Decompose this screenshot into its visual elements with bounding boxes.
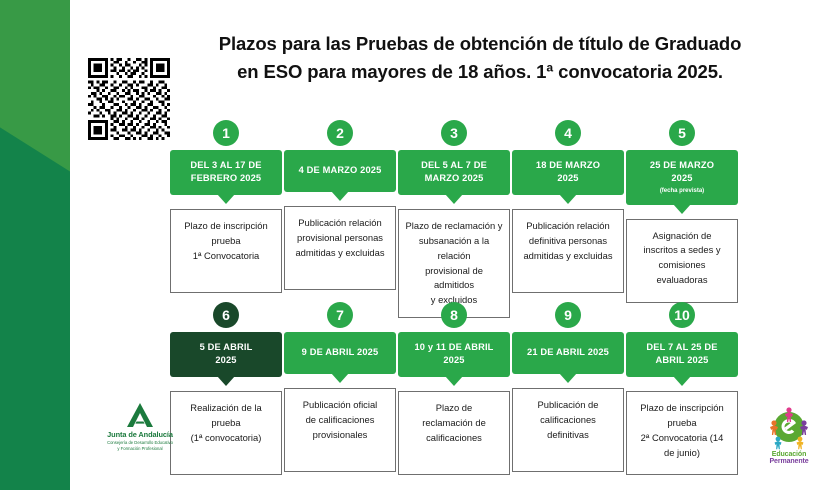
step-4[interactable]: 4 18 DE MARZO 2025 Publicación relación … [512, 120, 624, 293]
step-number-badge: 2 [327, 120, 353, 146]
step-description-line: prueba [177, 234, 275, 249]
step-description-line: Plazo de reclamación y [405, 219, 503, 234]
step-date-line: 4 DE MARZO 2025 [299, 164, 382, 177]
step-date-banner: 4 DE MARZO 2025 [284, 150, 396, 192]
step-date-banner: 5 DE ABRIL 2025 [170, 332, 282, 377]
step-date-line: 21 DE ABRIL 2025 [527, 346, 609, 359]
educacion-permanente-word-1: Educación [772, 451, 807, 458]
step-date-line: MARZO 2025 [425, 172, 484, 185]
step-description-line: Plazo de [405, 401, 503, 416]
step-date-banner: DEL 3 AL 17 DE FEBRERO 2025 [170, 150, 282, 195]
step-description-line: admitidas y excluidas [291, 246, 389, 261]
andalucia-arch-icon [125, 402, 155, 428]
step-description-line: Publicación relación [519, 219, 617, 234]
step-date-note: (fecha prevista) [660, 187, 704, 196]
educacion-permanente-wordmark: Educación Permanente [752, 451, 826, 465]
page-title-line-2: en ESO para mayores de 18 años. 1ª convo… [150, 58, 810, 86]
page-title: Plazos para las Pruebas de obtención de … [150, 30, 810, 86]
step-description-line: Plazo de inscripción [633, 401, 731, 416]
step-description-line: reclamación de [405, 416, 503, 431]
step-description-line: inscritos a sedes y [633, 243, 731, 258]
junta-de-andalucia-logo: Junta de Andalucía Consejería de Desarro… [88, 402, 192, 451]
step-date-line: DEL 3 AL 17 DE [190, 159, 261, 172]
step-description-line: admitidas y excluidas [519, 249, 617, 264]
step-3[interactable]: 3 DEL 5 AL 7 DE MARZO 2025 Plazo de recl… [398, 120, 510, 318]
step-description-line: definitiva personas [519, 234, 617, 249]
step-date-line: FEBRERO 2025 [191, 172, 262, 185]
step-description: Plazo de reclamación de calificaciones [398, 391, 510, 475]
step-description-line: 1ª Convocatoria [177, 249, 275, 264]
step-date-banner: 9 DE ABRIL 2025 [284, 332, 396, 374]
step-9[interactable]: 9 21 DE ABRIL 2025 Publicación de califi… [512, 302, 624, 472]
step-description-line: provisional personas [291, 231, 389, 246]
step-description-line: evaluadoras [633, 273, 731, 288]
step-description: Publicación oficial de calificaciones pr… [284, 388, 396, 472]
step-number-badge: 9 [555, 302, 581, 328]
step-description: Publicación relación definitiva personas… [512, 209, 624, 293]
step-date-banner: 25 DE MARZO 2025 (fecha prevista) [626, 150, 738, 205]
infographic-page: Plazos para las Pruebas de obtención de … [0, 0, 831, 490]
step-number-badge: 5 [669, 120, 695, 146]
step-date-line: 18 DE MARZO [536, 159, 600, 172]
step-date-line: 2025 [671, 172, 692, 185]
junta-logo-subtitle-line-2: y Formación Profesional [117, 446, 162, 451]
step-description-line: comisiones [633, 258, 731, 273]
step-description-line: provisionales [291, 428, 389, 443]
step-date-banner: 10 y 11 DE ABRIL 2025 [398, 332, 510, 377]
step-date-banner: 21 DE ABRIL 2025 [512, 332, 624, 374]
step-date-line: 2025 [443, 354, 464, 367]
step-date-line: DEL 5 AL 7 DE [421, 159, 487, 172]
step-date-line: ABRIL 2025 [655, 354, 708, 367]
step-date-line: 10 y 11 DE ABRIL [414, 341, 493, 354]
step-date-line: DEL 7 AL 25 DE [646, 341, 717, 354]
step-description-line: 2ª Convocatoria (14 [633, 431, 731, 446]
step-description: Publicación de calificaciones definitiva… [512, 388, 624, 472]
step-description-line: Publicación de [519, 398, 617, 413]
step-description-line: provisional de admitidos [405, 264, 503, 294]
educacion-permanente-icon [765, 406, 813, 450]
step-description-line: de junio) [633, 446, 731, 461]
step-8[interactable]: 8 10 y 11 DE ABRIL 2025 Plazo de reclama… [398, 302, 510, 475]
step-description-line: calificaciones [519, 413, 617, 428]
step-7[interactable]: 7 9 DE ABRIL 2025 Publicación oficial de… [284, 302, 396, 472]
junta-logo-subtitle-line-1: Consejería de Desarrollo Educativo [107, 440, 173, 445]
junta-logo-name: Junta de Andalucía [88, 430, 192, 439]
step-description-line: Publicación relación [291, 216, 389, 231]
step-date-banner: DEL 5 AL 7 DE MARZO 2025 [398, 150, 510, 195]
step-number-badge: 1 [213, 120, 239, 146]
step-date-line: 5 DE ABRIL [200, 341, 253, 354]
step-number-badge: 7 [327, 302, 353, 328]
step-description-line: prueba [633, 416, 731, 431]
step-description-line: de calificaciones [291, 413, 389, 428]
step-date-banner: DEL 7 AL 25 DE ABRIL 2025 [626, 332, 738, 377]
step-description: Plazo de inscripción prueba 2ª Convocato… [626, 391, 738, 475]
step-5[interactable]: 5 25 DE MARZO 2025 (fecha prevista) Asig… [626, 120, 738, 303]
step-description: Plazo de inscripción prueba 1ª Convocato… [170, 209, 282, 293]
step-number-badge: 6 [213, 302, 239, 328]
step-description-line: definitivas [519, 428, 617, 443]
step-date-line: 25 DE MARZO [650, 159, 714, 172]
step-description: Publicación relación provisional persona… [284, 206, 396, 290]
step-1[interactable]: 1 DEL 3 AL 17 DE FEBRERO 2025 Plazo de i… [170, 120, 282, 293]
step-description-line: calificaciones [405, 431, 503, 446]
step-description-line: Plazo de inscripción [177, 219, 275, 234]
junta-logo-subtitle: Consejería de Desarrollo Educativo y For… [88, 440, 192, 451]
educacion-permanente-logo: Educación Permanente [752, 406, 826, 465]
educacion-permanente-word-2: Permanente [769, 458, 808, 465]
left-green-band [0, 0, 70, 490]
step-10[interactable]: 10 DEL 7 AL 25 DE ABRIL 2025 Plazo de in… [626, 302, 738, 475]
step-date-line: 9 DE ABRIL 2025 [302, 346, 379, 359]
step-number-badge: 10 [669, 302, 695, 328]
step-date-banner: 18 DE MARZO 2025 [512, 150, 624, 195]
step-description-line: Publicación oficial [291, 398, 389, 413]
step-number-badge: 4 [555, 120, 581, 146]
step-2[interactable]: 2 4 DE MARZO 2025 Publicación relación p… [284, 120, 396, 290]
step-description: Asignación de inscritos a sedes y comisi… [626, 219, 738, 303]
step-number-badge: 8 [441, 302, 467, 328]
step-description-line: subsanación a la relación [405, 234, 503, 264]
page-title-line-1: Plazos para las Pruebas de obtención de … [150, 30, 810, 58]
step-date-line: 2025 [215, 354, 236, 367]
step-date-line: 2025 [557, 172, 578, 185]
step-number-badge: 3 [441, 120, 467, 146]
step-description-line: Asignación de [633, 229, 731, 244]
